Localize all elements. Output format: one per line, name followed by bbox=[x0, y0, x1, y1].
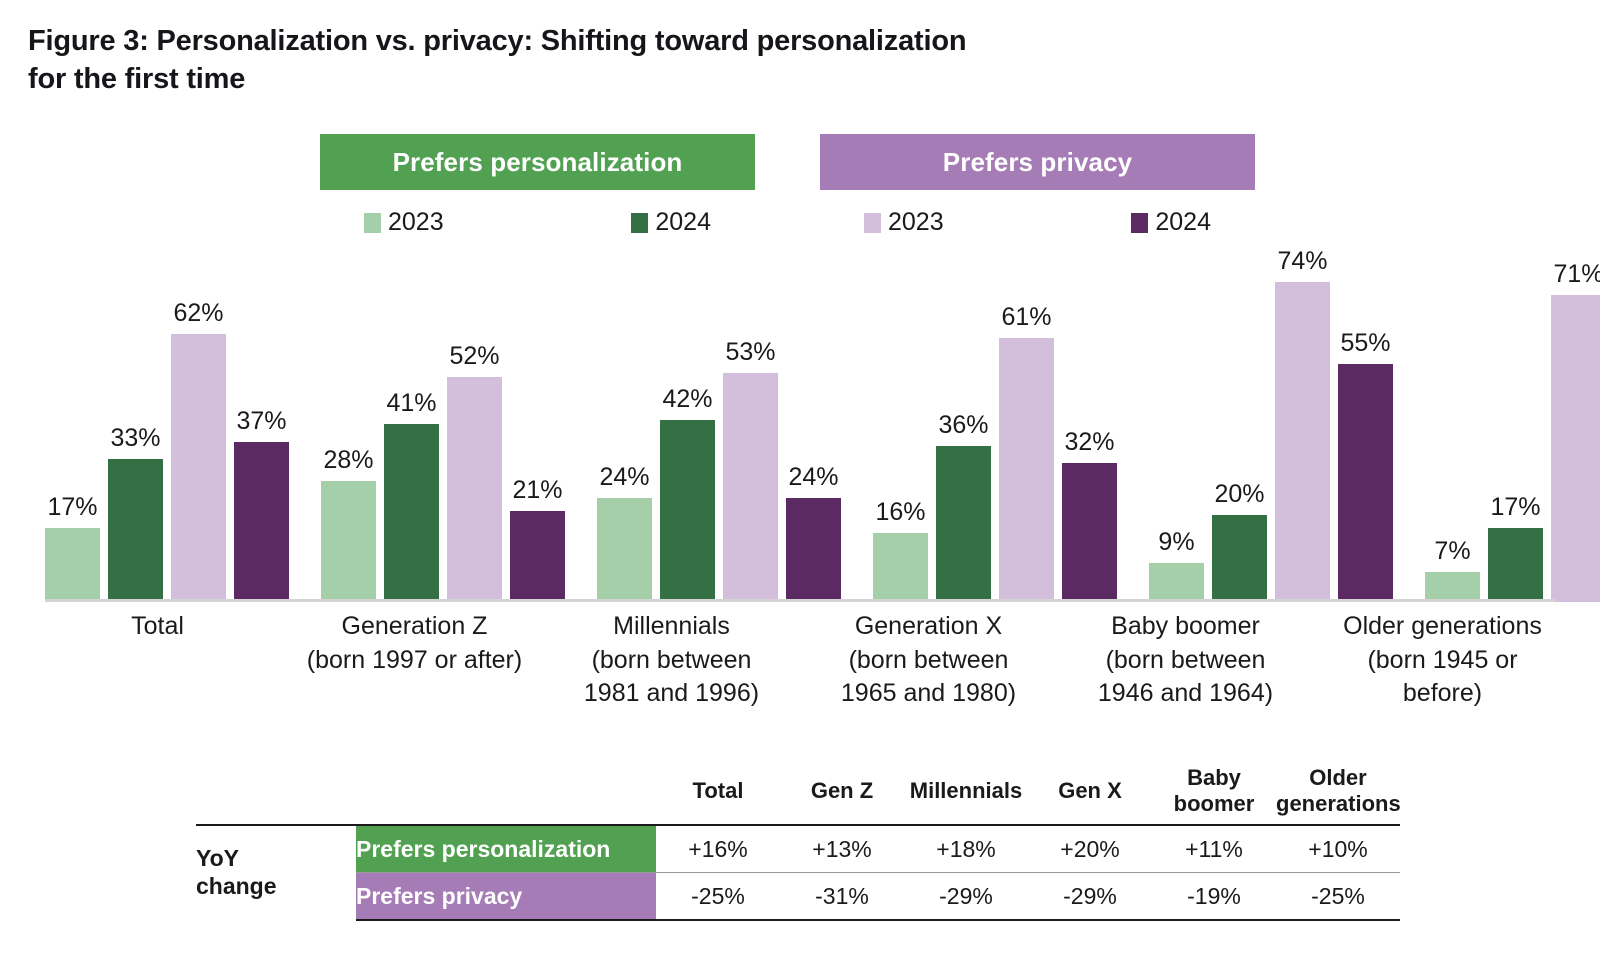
table-header-row: TotalGen ZMillennialsGen XBaby boomerOld… bbox=[196, 758, 1400, 825]
x-axis-label: Millennials (born between 1981 and 1996) bbox=[559, 610, 784, 720]
bar[interactable] bbox=[1062, 463, 1117, 602]
bar[interactable] bbox=[1149, 563, 1204, 602]
table-value-cell: -25% bbox=[1276, 873, 1400, 921]
bar-column[interactable]: 24% bbox=[786, 254, 841, 602]
table-value-cell: +16% bbox=[656, 825, 780, 873]
table-value-cell: -25% bbox=[656, 873, 780, 921]
table-value-cell: +20% bbox=[1028, 825, 1152, 873]
legend-swatch-icon bbox=[364, 213, 381, 233]
bar-column[interactable]: 74% bbox=[1275, 254, 1330, 602]
x-axis-label: Total bbox=[45, 610, 270, 720]
bar-column[interactable]: 41% bbox=[384, 254, 439, 602]
bar[interactable] bbox=[786, 498, 841, 602]
yoy-change-table: TotalGen ZMillennialsGen XBaby boomerOld… bbox=[196, 758, 1400, 921]
table-column-header: Total bbox=[656, 758, 780, 825]
table-row: YoY changePrefers personalization+16%+13… bbox=[196, 825, 1400, 873]
bar-value-label: 55% bbox=[1316, 329, 1416, 358]
bar-column[interactable]: 17% bbox=[1488, 254, 1543, 602]
series-name-cell: Prefers privacy bbox=[356, 873, 656, 921]
legend-key-2023[interactable]: 2023 bbox=[364, 208, 444, 237]
bar-column[interactable]: 55% bbox=[1338, 254, 1393, 602]
bar[interactable] bbox=[108, 459, 163, 602]
series-name-cell: Prefers personalization bbox=[356, 825, 656, 873]
bar-column[interactable]: 20% bbox=[1212, 254, 1267, 602]
bar[interactable] bbox=[936, 446, 991, 602]
legend-banner-privacy: Prefers privacy bbox=[820, 134, 1255, 190]
bar-group: 17%33%62%37% bbox=[45, 254, 289, 602]
bar[interactable] bbox=[384, 424, 439, 602]
table-value-cell: +18% bbox=[904, 825, 1028, 873]
table-value-cell: -29% bbox=[904, 873, 1028, 921]
bar-group: 9%20%74%55% bbox=[1149, 254, 1393, 602]
table-header-spacer-yoy bbox=[196, 758, 356, 825]
bar-chart: 17%33%62%37%28%41%52%21%24%42%53%24%16%3… bbox=[45, 252, 1555, 602]
x-axis-label: Generation X (born between 1965 and 1980… bbox=[816, 610, 1041, 720]
legend-key-label: 2023 bbox=[888, 208, 944, 237]
table-column-header: Millennials bbox=[904, 758, 1028, 825]
legend-key-label: 2024 bbox=[655, 208, 711, 237]
bar-column[interactable]: 53% bbox=[723, 254, 778, 602]
bar-value-label: 71% bbox=[1529, 260, 1600, 289]
bar-value-label: 24% bbox=[764, 463, 864, 492]
x-axis-label: Older generations (born 1945 or before) bbox=[1330, 610, 1555, 720]
x-axis-category-labels: TotalGeneration Z (born 1997 or after)Mi… bbox=[45, 610, 1555, 720]
bar-value-label: 21% bbox=[488, 476, 588, 505]
legend-key-2024[interactable]: 2024 bbox=[631, 208, 711, 237]
bar-column[interactable]: 9% bbox=[1149, 254, 1204, 602]
table-value-cell: +13% bbox=[780, 825, 904, 873]
bar-group: 28%41%52%21% bbox=[321, 254, 565, 602]
table-value-cell: +11% bbox=[1152, 825, 1276, 873]
legend-key-label: 2024 bbox=[1155, 208, 1211, 237]
legend-swatch-icon bbox=[1131, 213, 1148, 233]
bar[interactable] bbox=[510, 511, 565, 602]
legend-group-personalization: Prefers personalization20232024 bbox=[320, 134, 755, 237]
legend-key-2024[interactable]: 2024 bbox=[1131, 208, 1211, 237]
x-axis-label: Generation Z (born 1997 or after) bbox=[302, 610, 527, 720]
table-column-header: Baby boomer bbox=[1152, 758, 1276, 825]
bar[interactable] bbox=[660, 420, 715, 602]
bar-column[interactable]: 71% bbox=[1551, 254, 1600, 602]
page-title: Figure 3: Personalization vs. privacy: S… bbox=[28, 22, 1268, 99]
table-column-header: Gen Z bbox=[780, 758, 904, 825]
bar[interactable] bbox=[999, 338, 1054, 602]
bar-group: 7%17%71%56% bbox=[1425, 254, 1600, 602]
bar-column[interactable]: 28% bbox=[321, 254, 376, 602]
bar-column[interactable]: 42% bbox=[660, 254, 715, 602]
bar[interactable] bbox=[1488, 528, 1543, 602]
legend-key-label: 2023 bbox=[388, 208, 444, 237]
table-row: Prefers privacy-25%-31%-29%-29%-19%-25% bbox=[196, 873, 1400, 921]
bar-column[interactable]: 24% bbox=[597, 254, 652, 602]
table-column-header: Gen X bbox=[1028, 758, 1152, 825]
bar-value-label: 32% bbox=[1040, 428, 1140, 457]
bar[interactable] bbox=[597, 498, 652, 602]
table-header-spacer-series bbox=[356, 758, 656, 825]
bar[interactable] bbox=[1338, 364, 1393, 602]
bar[interactable] bbox=[873, 533, 928, 602]
table-value-cell: +10% bbox=[1276, 825, 1400, 873]
legend-swatch-icon bbox=[631, 213, 648, 233]
bar-column[interactable]: 21% bbox=[510, 254, 565, 602]
x-axis-line bbox=[45, 599, 1555, 602]
bar-column[interactable]: 52% bbox=[447, 254, 502, 602]
bar[interactable] bbox=[234, 442, 289, 602]
bar-column[interactable]: 37% bbox=[234, 254, 289, 602]
bar-value-label: 37% bbox=[212, 407, 312, 436]
bar-group: 16%36%61%32% bbox=[873, 254, 1117, 602]
table-value-cell: -29% bbox=[1028, 873, 1152, 921]
x-axis-label: Baby boomer (born between 1946 and 1964) bbox=[1073, 610, 1298, 720]
bar[interactable] bbox=[1212, 515, 1267, 602]
chart-legend: Prefers personalization20232024Prefers p… bbox=[320, 134, 1260, 244]
legend-keys: 20232024 bbox=[320, 208, 755, 237]
bar[interactable] bbox=[321, 481, 376, 602]
legend-group-privacy: Prefers privacy20232024 bbox=[820, 134, 1255, 237]
bar-column[interactable]: 7% bbox=[1425, 254, 1480, 602]
bar-group: 24%42%53%24% bbox=[597, 254, 841, 602]
yoy-change-row-header: YoY change bbox=[196, 825, 356, 920]
legend-key-2023[interactable]: 2023 bbox=[864, 208, 944, 237]
bar-column[interactable]: 32% bbox=[1062, 254, 1117, 602]
bar[interactable] bbox=[1425, 572, 1480, 602]
table-value-cell: -19% bbox=[1152, 873, 1276, 921]
legend-swatch-icon bbox=[864, 213, 881, 233]
bar[interactable] bbox=[45, 528, 100, 602]
bar[interactable] bbox=[171, 334, 226, 602]
table-column-header: Older generations bbox=[1276, 758, 1400, 825]
legend-keys: 20232024 bbox=[820, 208, 1255, 237]
chart-plot-area: 17%33%62%37%28%41%52%21%24%42%53%24%16%3… bbox=[45, 254, 1555, 602]
legend-banner-personalization: Prefers personalization bbox=[320, 134, 755, 190]
table-value-cell: -31% bbox=[780, 873, 904, 921]
bar-value-label: 56% bbox=[1592, 325, 1600, 354]
